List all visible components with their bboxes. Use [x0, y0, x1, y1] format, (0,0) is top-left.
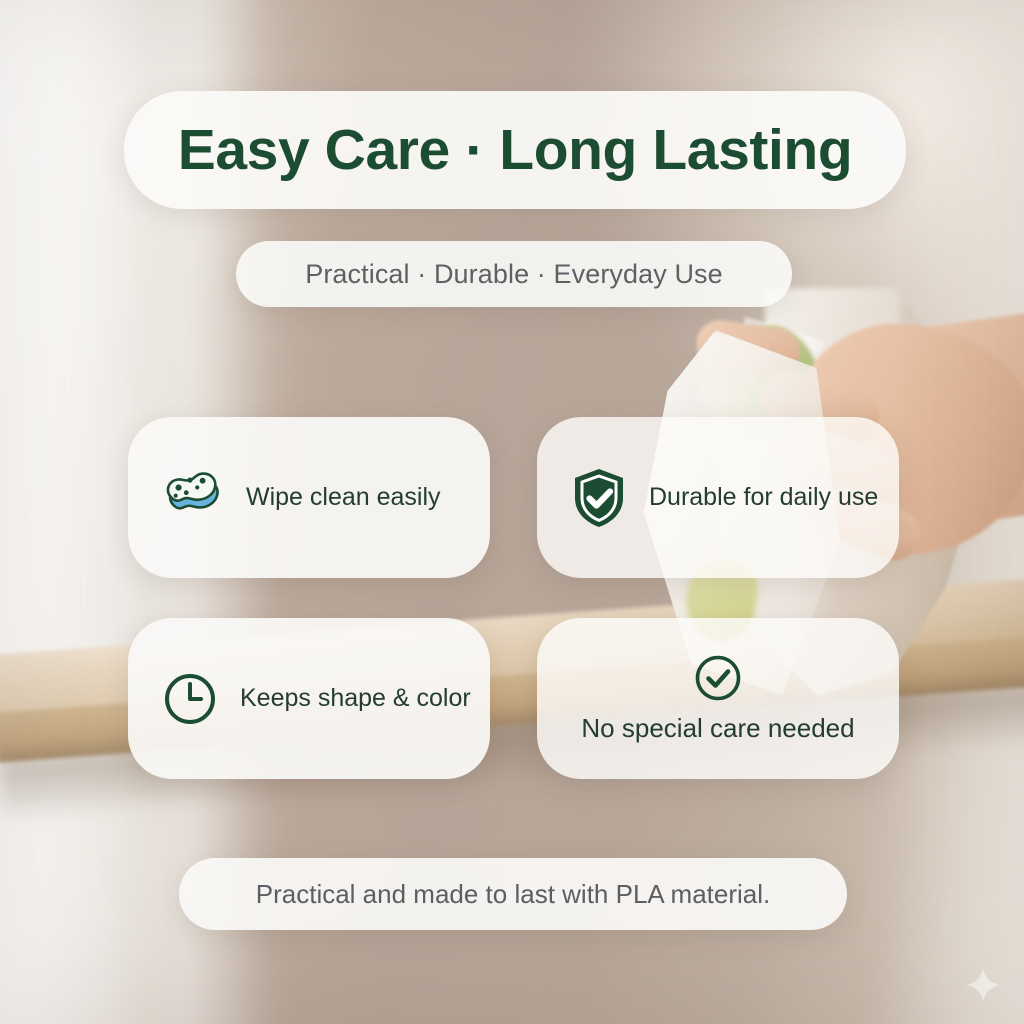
sparkle-icon	[966, 968, 1000, 1002]
feature-label: Durable for daily use	[649, 483, 878, 512]
feature-label: Wipe clean easily	[246, 483, 441, 512]
headline-card: Easy Care · Long Lasting	[124, 91, 906, 209]
page-subtitle: Practical · Durable · Everyday Use	[305, 259, 723, 290]
feature-card-keeps-shape[interactable]: Keeps shape & color	[128, 618, 490, 779]
feature-card-wipe-clean[interactable]: Wipe clean easily	[128, 417, 490, 578]
infographic-canvas: Easy Care · Long Lasting Practical · Dur…	[0, 0, 1024, 1024]
subheadline-card: Practical · Durable · Everyday Use	[236, 241, 792, 307]
feature-label: No special care needed	[581, 713, 854, 744]
footnote-text: Practical and made to last with PLA mate…	[256, 879, 770, 910]
feature-label: Keeps shape & color	[240, 684, 471, 713]
feature-card-durable-daily[interactable]: Durable for daily use	[537, 417, 899, 578]
shield-check-icon	[571, 467, 627, 529]
feature-card-no-special-care[interactable]: No special care needed	[537, 618, 899, 779]
page-title: Easy Care · Long Lasting	[178, 117, 853, 183]
content-overlay: Easy Care · Long Lasting Practical · Dur…	[0, 0, 1024, 1024]
check-circle-icon	[693, 653, 743, 703]
footnote-card: Practical and made to last with PLA mate…	[179, 858, 847, 930]
sponge-icon	[162, 471, 224, 525]
clock-icon	[162, 671, 218, 727]
